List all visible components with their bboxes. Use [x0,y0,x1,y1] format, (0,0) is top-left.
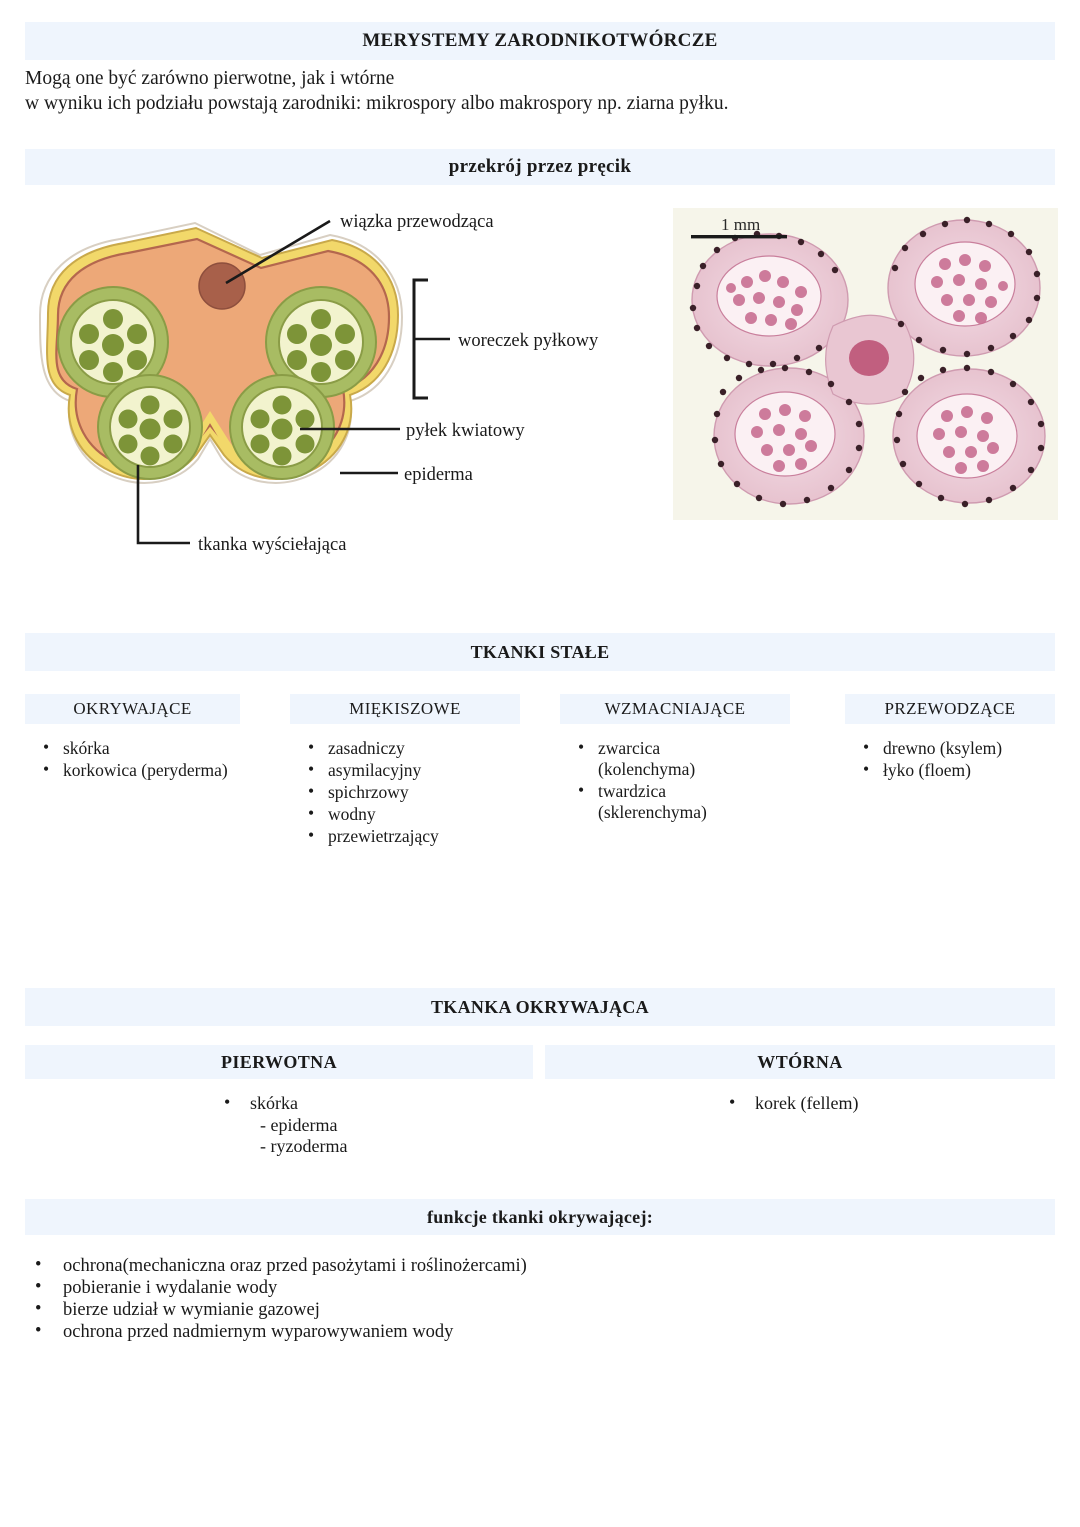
label-epidermis: epiderma [404,465,473,485]
list-item-label: zwarcica [598,738,660,758]
column-header-label: OKRYWAJĄCE [73,699,191,719]
list-item: • twardzica (sklerenchyma) [560,781,790,823]
column-header-label: WZMACNIAJĄCE [605,699,746,719]
tkanka-okrywajaca-title: TKANKA OKRYWAJĄCA [431,997,649,1018]
list-item-sublabel: (sklerenchyma) [598,802,790,823]
label-pollen-grain: pyłek kwiatowy [406,421,525,441]
column-przewodzace: PRZEWODZĄCE • drewno (ksylem) • łyko (fl… [845,694,1055,782]
column-list-miekiszowe: • zasadniczy • asymilacyjny • spichrzowy… [290,724,520,847]
list-item: • korek (fellem) [725,1093,858,1115]
list-item: • drewno (ksylem) [845,738,1055,759]
figure-area: wiązka przewodząca woreczek pyłkowy pyłe… [0,195,1080,565]
list-item-label: wodny [328,804,376,824]
pollen-sac-lower-right [230,375,334,479]
bullet-glyph: • [43,737,49,758]
anther-micrograph: 1 mm [673,208,1058,520]
list-item-label: spichrzowy [328,782,409,802]
bullet-glyph: • [578,780,584,801]
intro-paragraph: Mogą one być zarówno pierwotne, jak i wt… [25,66,1045,116]
list-item: • spichrzowy [290,782,520,803]
list-pierwotna: • skórka - epiderma - ryzoderma [220,1093,347,1158]
list-item: • zasadniczy [290,738,520,759]
column-header-wzmacniajace: WZMACNIAJĄCE [560,694,790,724]
tkanki-stale-columns: OKRYWAJĄCE • skórka • korkowica (peryder… [0,694,1080,864]
bullet-glyph: • [308,737,314,758]
bullet-glyph: • [35,1276,41,1298]
column-header-label: MIĘKISZOWE [349,699,461,719]
column-header-okrywajace: OKRYWAJĄCE [25,694,240,724]
column-list-wzmacniajace: • zwarcica (kolenchyma) • twardzica (skl… [560,724,790,823]
bullet-glyph: • [35,1320,41,1342]
figure-title: przekrój przez pręcik [449,156,632,178]
bullet-glyph: • [35,1254,41,1276]
list-item-dash-1: - epiderma [250,1115,347,1137]
label-tapetum: tkanka wyściełająca [198,535,346,555]
list-item-label: przewietrzający [328,826,439,846]
column-list-przewodzace: • drewno (ksylem) • łyko (floem) [845,724,1055,781]
list-item: • ochrona(mechaniczna oraz przed pasożyt… [30,1255,527,1277]
list-item-label: ochrona przed nadmiernym wyparowywaniem … [63,1322,453,1342]
list-item: • przewietrzający [290,826,520,847]
bullet-glyph: • [35,1298,41,1320]
list-item: • pobieranie i wydalanie wody [30,1277,527,1299]
list-item-label: skórka [250,1093,298,1113]
page-title: MERYSTEMY ZARODNIKOTWÓRCZE [362,30,717,52]
tkanka-okrywajaca-banner: TKANKA OKRYWAJĄCA [25,988,1055,1026]
list-item-label: twardzica [598,781,666,801]
bullet-glyph: • [729,1092,735,1114]
list-wtorna: • korek (fellem) [725,1093,858,1115]
list-item: • wodny [290,804,520,825]
intro-line-1: Mogą one być zarówno pierwotne, jak i wt… [25,66,1045,91]
figure-title-banner: przekrój przez pręcik [25,149,1055,185]
tkanki-stale-banner: TKANKI STAŁE [25,633,1055,671]
bullet-glyph: • [43,759,49,780]
bullet-glyph: • [863,737,869,758]
list-item: • skórka - epiderma - ryzoderma [220,1093,347,1158]
column-header-miekiszowe: MIĘKISZOWE [290,694,520,724]
funkcje-title: funkcje tkanki okrywającej: [427,1207,653,1228]
list-item-label: bierze udział w wymianie gazowej [63,1300,320,1320]
list-item-label: drewno (ksylem) [883,738,1002,758]
column-header-przewodzace: PRZEWODZĄCE [845,694,1055,724]
list-item-dash-2: - ryzoderma [250,1136,347,1158]
bullet-glyph: • [308,803,314,824]
subheader-label: WTÓRNA [757,1052,842,1073]
tkanki-stale-title: TKANKI STAŁE [471,642,610,663]
list-item-label: łyko (floem) [883,760,971,780]
list-item-label: ochrona(mechaniczna oraz przed pasożytam… [63,1256,527,1276]
label-vascular-bundle: wiązka przewodząca [340,212,494,232]
list-item: • korkowica (peryderma) [25,760,240,781]
list-item: • bierze udział w wymianie gazowej [30,1299,527,1321]
column-miekiszowe: MIĘKISZOWE • zasadniczy • asymilacyjny •… [290,694,520,848]
bullet-glyph: • [863,759,869,780]
vascular-bundle [199,263,245,309]
list-item-label: korkowica (peryderma) [63,760,228,780]
subheader-pierwotna: PIERWOTNA [25,1045,533,1079]
list-item: • łyko (floem) [845,760,1055,781]
list-item-label: asymilacyjny [328,760,421,780]
funkcje-list: • ochrona(mechaniczna oraz przed pasożyt… [30,1255,527,1343]
subheader-label: PIERWOTNA [221,1052,337,1073]
column-wzmacniajace: WZMACNIAJĄCE • zwarcica (kolenchyma) • t… [560,694,790,824]
list-item: • zwarcica (kolenchyma) [560,738,790,780]
pollen-sac-lower-left [98,375,202,479]
column-header-label: PRZEWODZĄCE [885,699,1016,719]
list-item: • skórka [25,738,240,759]
label-pollen-sac: woreczek pyłkowy [458,331,599,351]
list-item-label: pobieranie i wydalanie wody [63,1278,277,1298]
tkanka-okrywajaca-columns: PIERWOTNA WTÓRNA • skórka - epiderma - r… [0,1045,1080,1175]
bullet-glyph: • [308,759,314,780]
bullet-glyph: • [224,1092,230,1114]
column-list-okrywajace: • skórka • korkowica (peryderma) [25,724,240,781]
list-item: • asymilacyjny [290,760,520,781]
subheader-wtorna: WTÓRNA [545,1045,1055,1079]
scale-bar-label: 1 mm [721,215,760,234]
bullet-glyph: • [308,825,314,846]
anther-cross-section-diagram: wiązka przewodząca woreczek pyłkowy pyłe… [10,195,660,565]
bullet-glyph: • [578,737,584,758]
list-item-label: korek (fellem) [755,1093,858,1113]
bullet-glyph: • [308,781,314,802]
list-item-label: skórka [63,738,110,758]
list-item-sublabel: (kolenchyma) [598,759,790,780]
column-okrywajace: OKRYWAJĄCE • skórka • korkowica (peryder… [25,694,240,782]
list-item-label: zasadniczy [328,738,405,758]
list-item: • ochrona przed nadmiernym wyparowywanie… [30,1321,527,1343]
intro-line-2: w wyniku ich podziału powstają zarodniki… [25,91,1045,116]
page-title-banner: MERYSTEMY ZARODNIKOTWÓRCZE [25,22,1055,60]
funkcje-banner: funkcje tkanki okrywającej: [25,1199,1055,1235]
